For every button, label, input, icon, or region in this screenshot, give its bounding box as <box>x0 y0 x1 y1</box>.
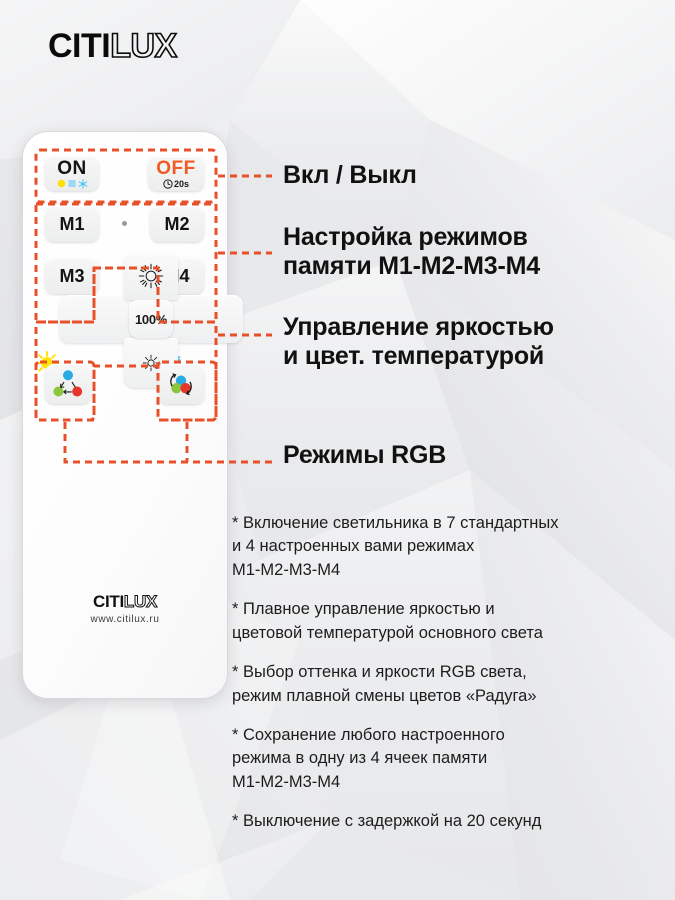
callout-label-rgb: Режимы RGB <box>283 441 446 470</box>
snowflake-small-icon <box>78 179 88 189</box>
neutral-square-icon <box>68 179 76 188</box>
feature-item: * Плавное управление яркостью и цветовой… <box>232 598 662 645</box>
rgb-rainbow-cycle-button[interactable] <box>158 364 204 404</box>
memory-button-m3[interactable]: M3 <box>45 258 99 294</box>
callout-label-memory-line1: Настройка режимов <box>283 223 540 252</box>
logo-text-lux: LUX <box>110 27 177 66</box>
power-on-button[interactable]: ON <box>45 156 99 191</box>
remote-control-body: ON OFF 20s <box>22 131 228 699</box>
warm-dot-icon <box>57 179 66 188</box>
callout-label-brightness: Управление яркостью и цвет. температурой <box>283 313 554 370</box>
brightness-100-button[interactable]: 100% <box>129 300 173 338</box>
memory-button-m1[interactable]: M1 <box>45 206 99 242</box>
clock-icon <box>163 179 173 189</box>
remote-logo-text: CITILUX <box>23 592 227 612</box>
brightness-percent-label: 100% <box>135 312 167 327</box>
off-delay-label: 20s <box>174 179 189 189</box>
remote-footer-logo: CITILUX www.citilux.ru <box>23 592 227 625</box>
callout-label-memory-line2: памяти M1-M2-M3-M4 <box>283 252 540 281</box>
off-delay-indicator: 20s <box>163 179 189 189</box>
power-off-button[interactable]: OFF 20s <box>148 156 204 191</box>
feature-item: * Включение светильника в 7 стандартных … <box>232 512 662 582</box>
ir-indicator-dot <box>122 221 127 226</box>
memory-label-m3: M3 <box>59 267 84 285</box>
logo-text-citi: CITI <box>48 27 110 66</box>
rgb-color-select-button[interactable] <box>45 364 91 404</box>
callout-label-brightness-line2: и цвет. температурой <box>283 342 554 371</box>
rgb-color-select-icon <box>51 369 85 399</box>
feature-item: * Сохранение любого настроенного режима … <box>232 724 662 794</box>
memory-label-m2: M2 <box>164 215 189 233</box>
memory-button-m2[interactable]: M2 <box>150 206 204 242</box>
sun-bright-icon <box>138 263 164 289</box>
on-mode-icons <box>57 179 88 189</box>
power-on-label: ON <box>57 159 87 178</box>
power-off-label: OFF <box>156 159 196 178</box>
feature-item: * Выбор оттенка и яркости RGB света, реж… <box>232 661 662 708</box>
remote-logo-lux: LUX <box>124 592 157 611</box>
feature-list: * Включение светильника в 7 стандартных … <box>232 512 662 850</box>
callout-label-brightness-line1: Управление яркостью <box>283 313 554 342</box>
rgb-rainbow-cycle-icon <box>164 369 198 399</box>
remote-logo-citi: CITI <box>93 592 124 611</box>
callout-label-power: Вкл / Выкл <box>283 161 417 190</box>
memory-label-m1: M1 <box>59 215 84 233</box>
citilux-logo: CITILUX <box>48 26 177 66</box>
feature-item: * Выключение с задержкой на 20 секунд <box>232 810 662 833</box>
callout-label-memory: Настройка режимов памяти M1-M2-M3-M4 <box>283 223 540 280</box>
brightness-up-button[interactable] <box>124 252 178 300</box>
remote-website-url: www.citilux.ru <box>23 614 227 625</box>
